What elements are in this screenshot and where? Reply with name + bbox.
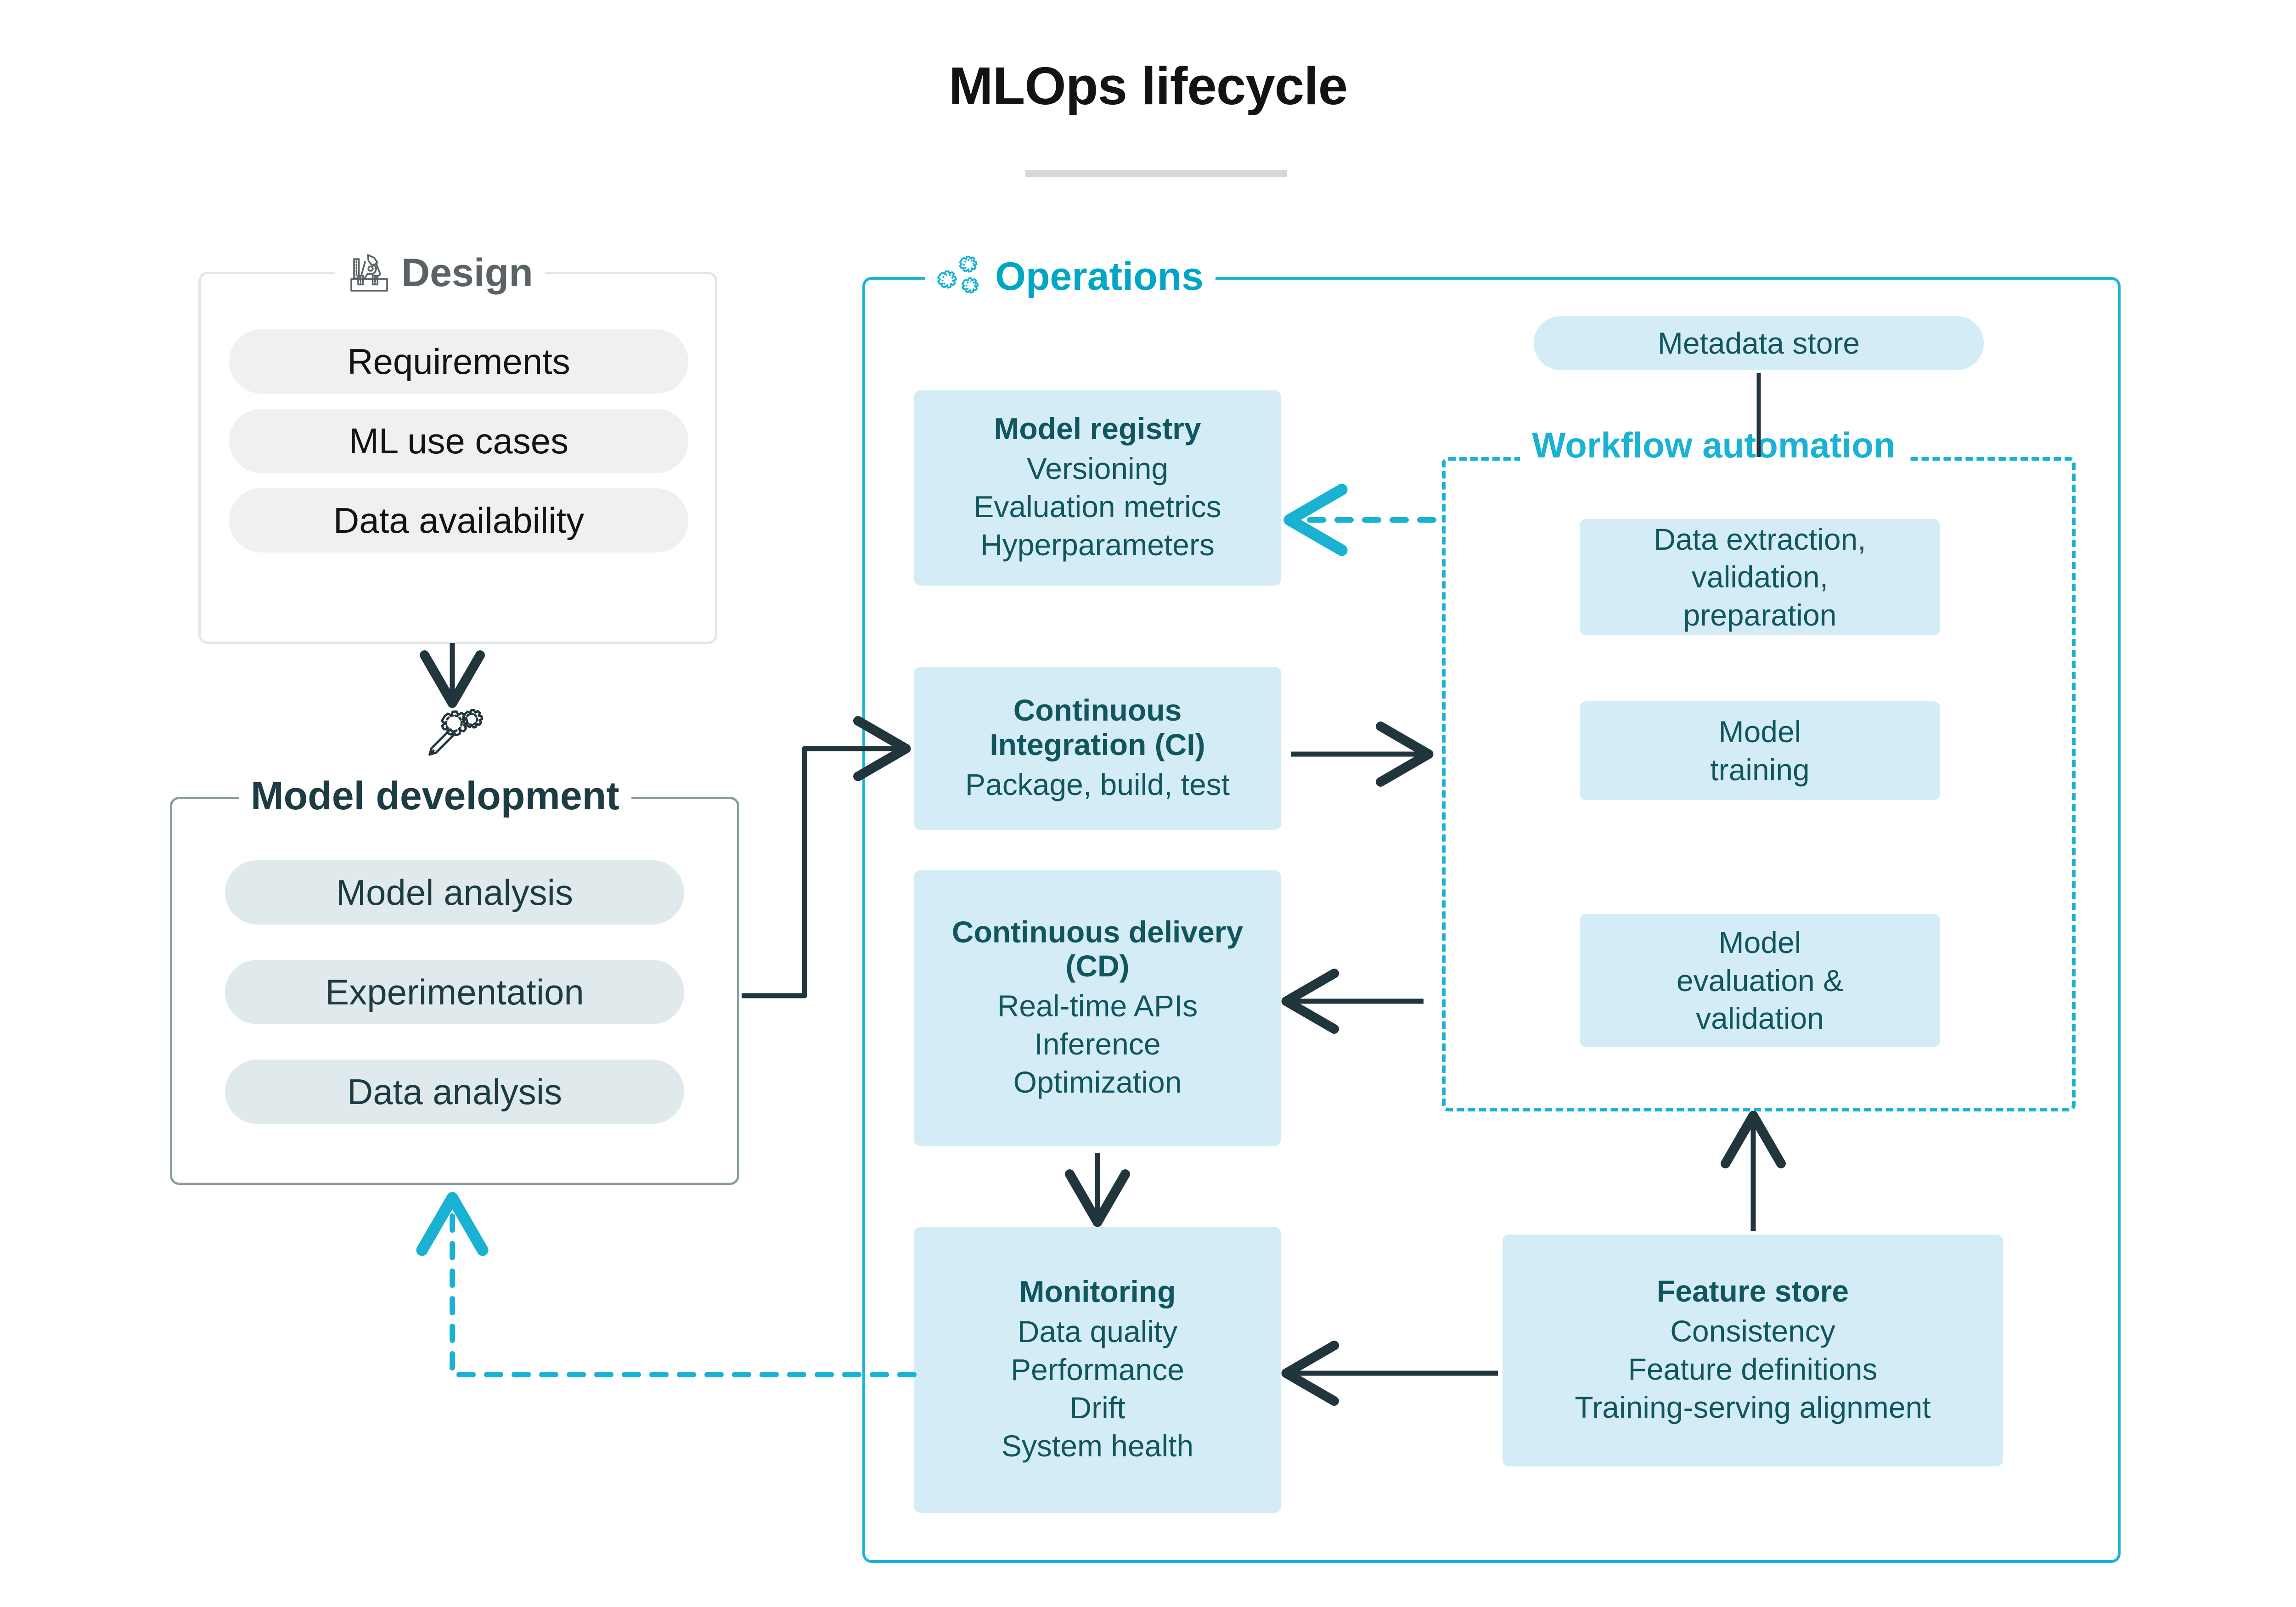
design-item-label: Data availability — [333, 500, 584, 541]
wf-step-model-evaluation[interactable]: Modelevaluation &validation — [1580, 914, 1940, 1047]
design-item-ml-use-cases[interactable]: ML use cases — [229, 409, 688, 473]
card-line: Data quality — [1018, 1313, 1178, 1351]
card-line: Versioning — [1027, 450, 1168, 488]
design-group-label: Design — [335, 251, 545, 295]
design-item-label: ML use cases — [349, 420, 568, 462]
design-group-title: Design — [401, 253, 533, 293]
card-heading: ContinuousIntegration (CI) — [990, 693, 1205, 761]
toolbox-icon — [347, 251, 391, 295]
card-line: Training-serving alignment — [1575, 1388, 1930, 1427]
page-title: MLOps lifecycle — [0, 55, 2296, 117]
md-item-label: Model analysis — [336, 872, 573, 913]
card-continuous-integration[interactable]: ContinuousIntegration (CI) Package, buil… — [914, 667, 1281, 830]
card-line: Consistency — [1670, 1312, 1835, 1350]
card-line: Drift — [1070, 1389, 1125, 1427]
card-heading: Monitoring — [1019, 1274, 1176, 1309]
card-feature-store[interactable]: Feature store Consistency Feature defini… — [1503, 1235, 2003, 1466]
card-heading: Continuous delivery(CD) — [952, 915, 1243, 983]
design-item-requirements[interactable]: Requirements — [229, 329, 688, 394]
wf-step-label: Modelevaluation &validation — [1677, 924, 1843, 1038]
model-development-title: Model development — [251, 776, 619, 816]
wf-step-label: Modeltraining — [1710, 713, 1809, 789]
card-monitoring[interactable]: Monitoring Data quality Performance Drif… — [914, 1227, 1281, 1513]
arrow-monitoring-to-model-development — [452, 1203, 914, 1375]
card-model-registry[interactable]: Model registry Versioning Evaluation met… — [914, 390, 1281, 586]
wf-step-label: Data extraction,validation,preparation — [1654, 520, 1866, 634]
card-line: Evaluation metrics — [974, 488, 1221, 526]
design-group-panel: Requirements ML use cases Data availabil… — [198, 272, 717, 644]
design-item-label: Requirements — [347, 341, 570, 383]
wf-step-model-training[interactable]: Modeltraining — [1580, 701, 1940, 800]
card-line: Performance — [1011, 1351, 1184, 1389]
title-divider — [1025, 170, 1287, 177]
wrench-gears-icon — [416, 700, 484, 769]
card-line: Inference — [1034, 1025, 1160, 1063]
card-line: Real-time APIs — [997, 987, 1198, 1025]
wf-step-data-extraction[interactable]: Data extraction,validation,preparation — [1580, 519, 1940, 635]
workflow-automation-title: Workflow automation — [1532, 427, 1896, 463]
model-development-group-label: Model development — [239, 776, 631, 816]
card-line: Package, build, test — [965, 766, 1230, 804]
gears-icon — [937, 256, 985, 297]
operations-title: Operations — [995, 257, 1204, 296]
card-continuous-delivery[interactable]: Continuous delivery(CD) Real-time APIs I… — [914, 870, 1281, 1146]
card-heading: Feature store — [1657, 1274, 1849, 1308]
card-line: Hyperparameters — [980, 526, 1215, 564]
card-heading: Model registry — [994, 412, 1201, 446]
operations-group-label: Operations — [925, 256, 1216, 297]
model-development-group-panel: Model analysis Experimentation Data anal… — [170, 797, 739, 1185]
card-line: Optimization — [1013, 1063, 1182, 1101]
card-line: Feature definitions — [1628, 1350, 1878, 1388]
diagram-canvas: MLOps lifecycle Requirements ML use case… — [0, 0, 2296, 1607]
md-item-experimentation[interactable]: Experimentation — [225, 960, 684, 1024]
card-metadata-store[interactable]: Metadata store — [1534, 316, 1984, 370]
workflow-automation-label: Workflow automation — [1520, 427, 1908, 463]
md-item-label: Experimentation — [325, 971, 584, 1013]
design-item-data-availability[interactable]: Data availability — [229, 488, 688, 553]
md-item-model-analysis[interactable]: Model analysis — [225, 860, 684, 925]
card-line: System health — [1002, 1427, 1193, 1465]
md-item-label: Data analysis — [347, 1071, 562, 1113]
card-metadata-store-label: Metadata store — [1658, 326, 1860, 361]
md-item-data-analysis[interactable]: Data analysis — [225, 1060, 684, 1124]
